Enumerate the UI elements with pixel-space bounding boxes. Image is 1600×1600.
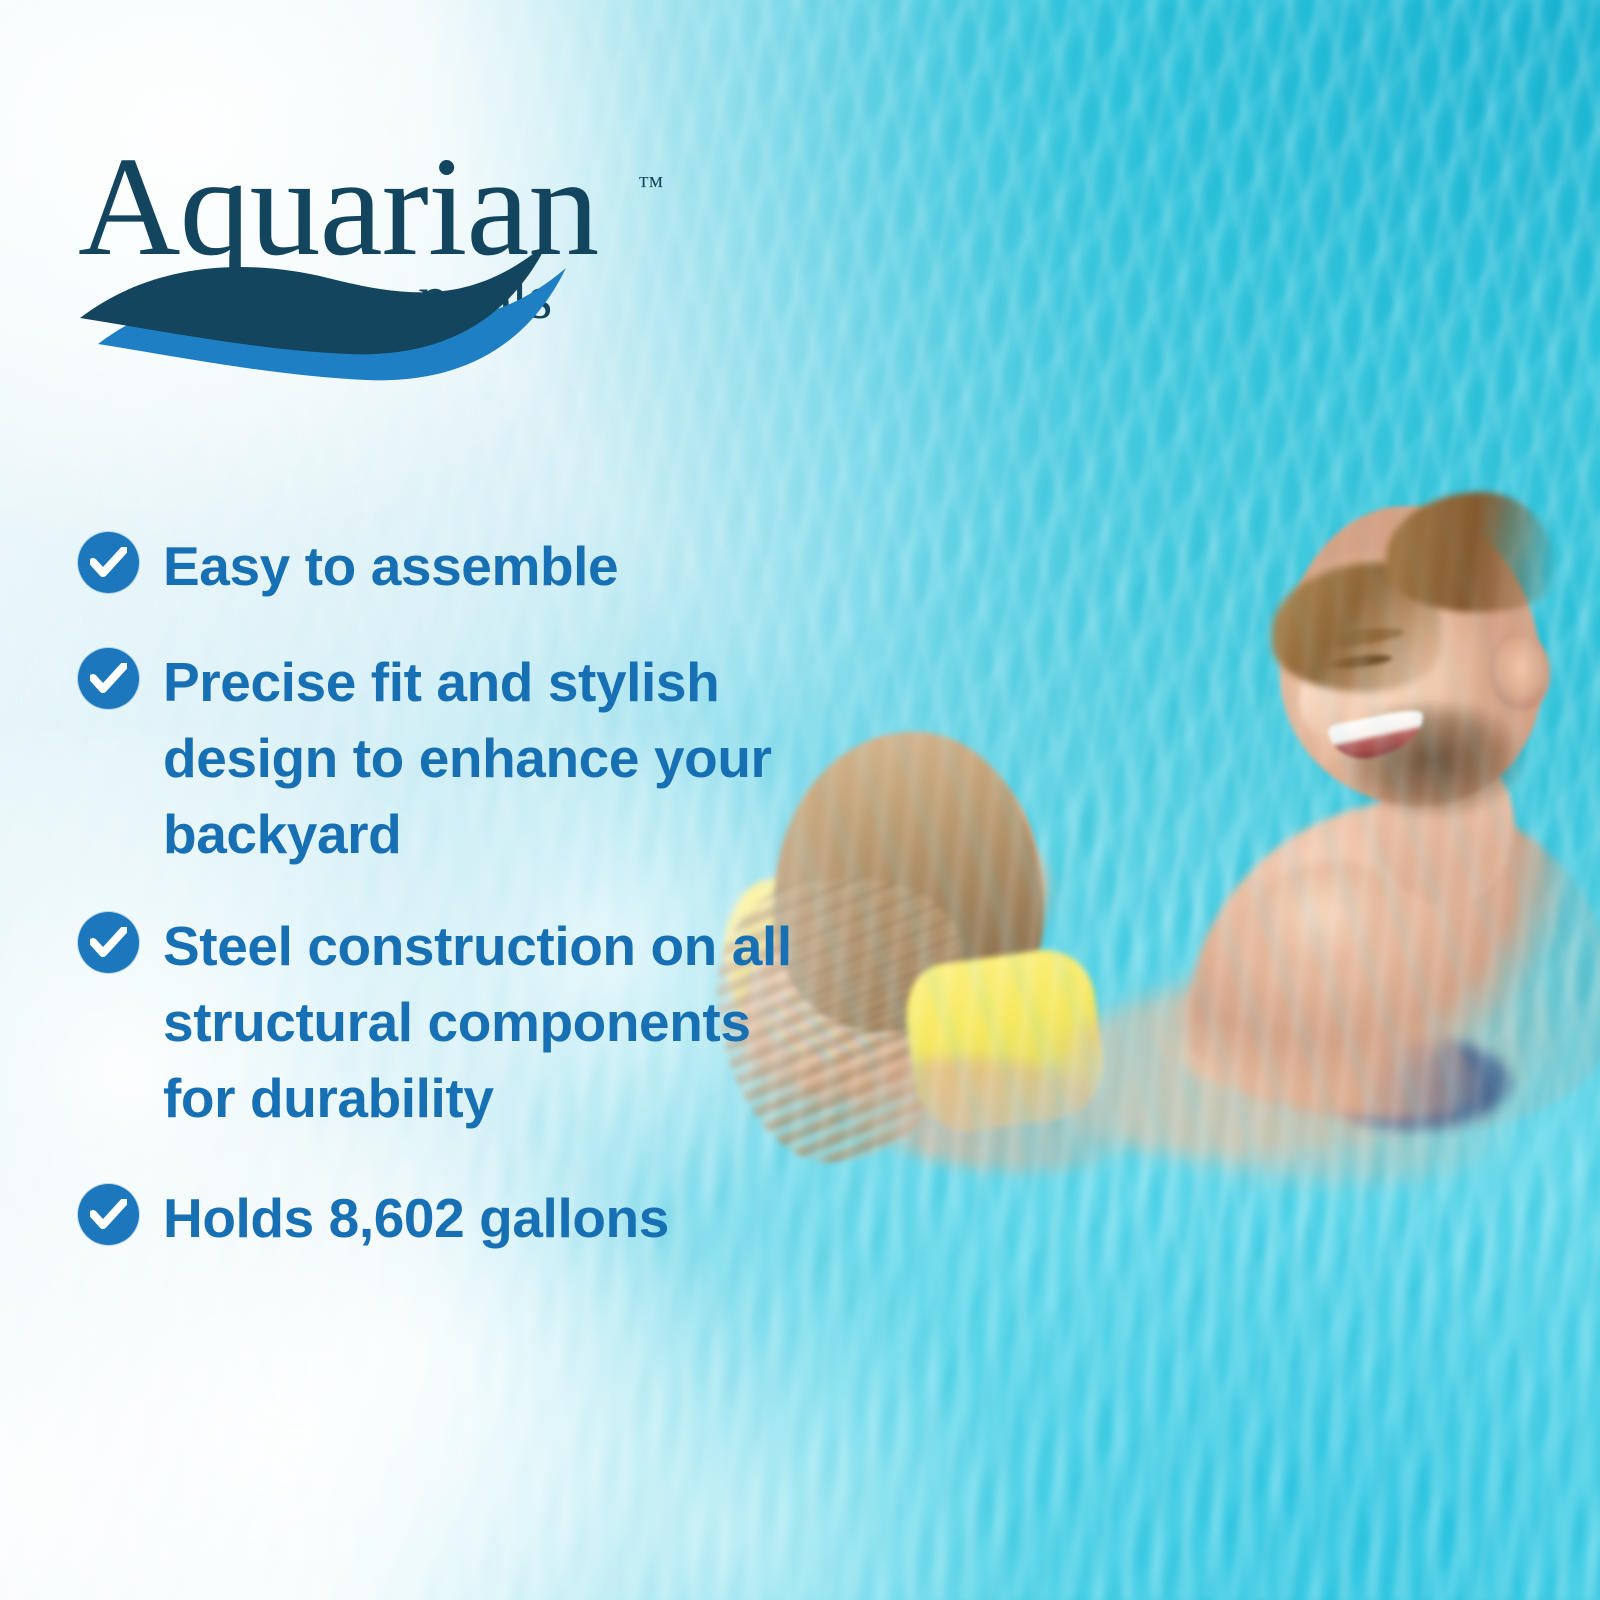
- check-circle-icon: [78, 532, 139, 593]
- feature-item-easy-to-assemble: Easy to assemble: [78, 528, 798, 604]
- feature-label: Holds 8,602 gallons: [163, 1180, 669, 1256]
- feature-label: Easy to assemble: [163, 528, 618, 604]
- check-circle-icon: [78, 648, 139, 709]
- aquarian-pools-logo: Aquarian ™ pools: [78, 146, 688, 386]
- check-circle-icon: [78, 1184, 139, 1245]
- feature-item-holds-gallons: Holds 8,602 gallons: [78, 1180, 798, 1256]
- feature-list: Easy to assemble Precise fit and stylish…: [78, 528, 798, 1256]
- check-circle-icon: [78, 912, 139, 973]
- feature-item-steel-construction: Steel construction on all structural com…: [78, 908, 798, 1136]
- overlay-content: Aquarian ™ pools Easy to assemble: [0, 0, 1600, 1600]
- feature-label: Steel construction on all structural com…: [163, 908, 798, 1136]
- feature-item-precise-fit: Precise fit and stylish design to enhanc…: [78, 644, 798, 872]
- svg-text:™: ™: [638, 171, 663, 200]
- product-feature-banner: Aquarian ™ pools Easy to assemble: [0, 0, 1600, 1600]
- feature-label: Precise fit and stylish design to enhanc…: [163, 644, 798, 872]
